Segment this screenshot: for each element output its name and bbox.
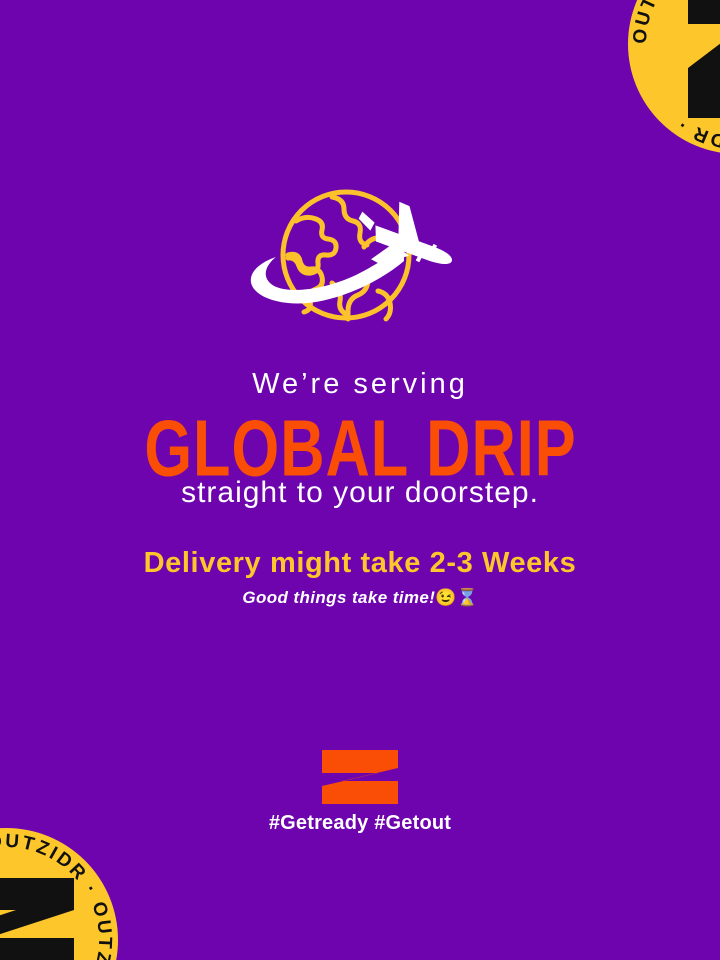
- z-logo-icon: [320, 748, 400, 806]
- subline-text: straight to your doorstep.: [0, 478, 720, 508]
- globe-with-airplane-icon: [236, 175, 486, 345]
- reassurance-text: Good things take time!: [242, 588, 435, 607]
- headline-text: GLOBAL DRIP: [0, 404, 720, 475]
- brand-stamp-top-right: OUTZIDR · OUTZIDR · OUTZIDR · OUTZIDR ·: [622, 0, 720, 160]
- brand-stamp-bottom-left: OUTZIDR · OUTZIDR · OUTZIDR · OUTZIDR · …: [0, 826, 120, 960]
- delivery-notice-text: Delivery might take 2-3 Weeks: [0, 549, 720, 578]
- eyebrow-text: We’re serving: [0, 370, 720, 399]
- reassurance-line: Good things take time!😉⌛: [0, 589, 720, 606]
- wink-hourglass-emoji: 😉⌛: [435, 588, 477, 607]
- brand-logo: [0, 748, 720, 811]
- promo-poster: We’re serving GLOBAL DRIP straight to yo…: [0, 0, 720, 960]
